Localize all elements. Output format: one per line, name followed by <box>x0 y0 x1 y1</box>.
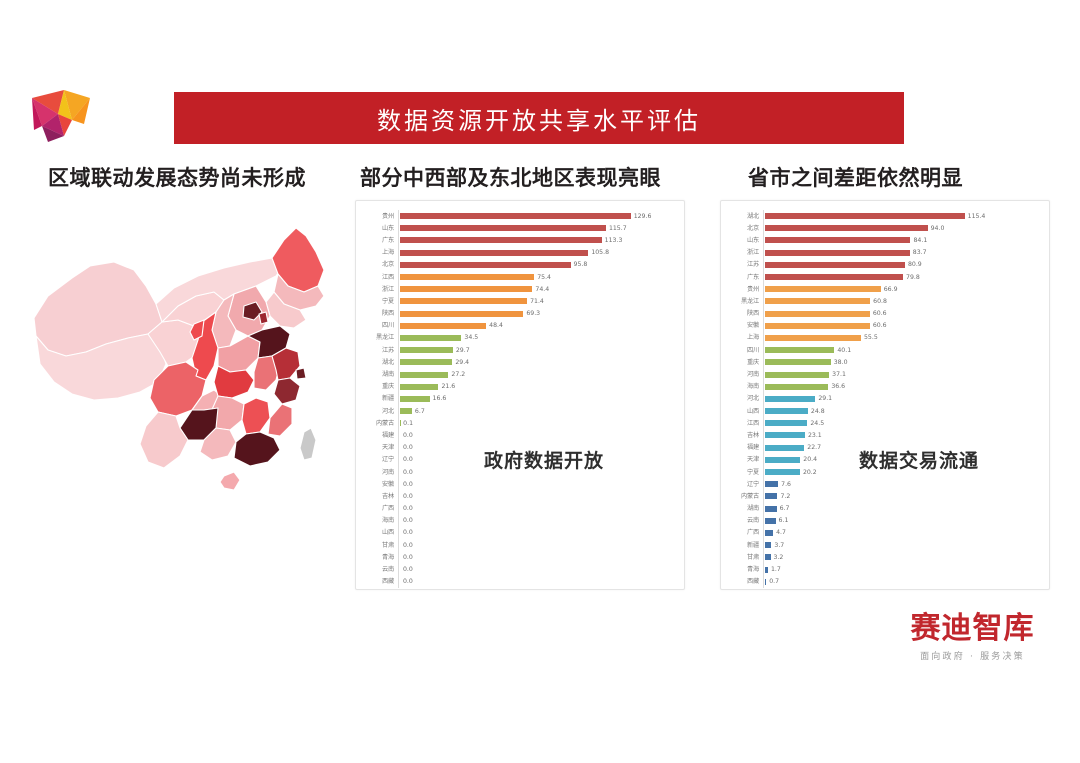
bar-row: 安徽60.6 <box>725 320 1041 332</box>
bar-track: 0.0 <box>398 478 676 490</box>
bar-row: 云南6.1 <box>725 515 1041 527</box>
bar-fill <box>765 286 881 292</box>
bar-track: 66.9 <box>763 283 1041 295</box>
bar-track: 6.1 <box>763 515 1041 527</box>
bar-row: 河南37.1 <box>725 368 1041 380</box>
bar-category-label: 广西 <box>725 529 763 536</box>
bar-fill <box>765 372 829 378</box>
bar-fill <box>400 396 430 402</box>
bar-category-label: 河北 <box>360 408 398 415</box>
bar-fill <box>765 445 804 451</box>
bar-category-label: 安徽 <box>360 481 398 488</box>
bar-fill <box>765 567 768 573</box>
chart-title-gov: 政府数据开放 <box>484 446 604 473</box>
bar-track: 0.0 <box>398 490 676 502</box>
bar-row: 青海0.0 <box>360 551 676 563</box>
map-region-tianjin <box>259 312 268 324</box>
bar-fill <box>765 506 777 512</box>
bar-fill <box>400 274 534 280</box>
bar-row: 湖南27.2 <box>360 368 676 380</box>
bar-value-label: 0.0 <box>403 493 413 500</box>
bar-fill <box>400 262 571 268</box>
bar-value-label: 6.7 <box>415 408 425 415</box>
section-heading-gov: 部分中西部及东北地区表现亮眼 <box>360 162 661 192</box>
bar-fill <box>400 384 438 390</box>
bar-category-label: 吉林 <box>725 432 763 439</box>
bar-row: 吉林23.1 <box>725 429 1041 441</box>
bar-row: 吉林0.0 <box>360 490 676 502</box>
bar-row: 陕西69.3 <box>360 308 676 320</box>
bar-value-label: 60.8 <box>873 298 887 305</box>
bar-value-label: 0.0 <box>403 517 413 524</box>
bar-track: 7.2 <box>763 490 1041 502</box>
bar-value-label: 80.9 <box>908 261 922 268</box>
bar-category-label: 四川 <box>725 347 763 354</box>
bar-track: 0.0 <box>398 515 676 527</box>
bar-category-label: 安徽 <box>725 322 763 329</box>
bar-track: 0.0 <box>398 527 676 539</box>
bar-category-label: 山东 <box>725 237 763 244</box>
bar-category-label: 辽宁 <box>725 481 763 488</box>
bar-fill <box>400 250 588 256</box>
bar-track: 48.4 <box>398 320 676 332</box>
bar-value-label: 0.0 <box>403 529 413 536</box>
map-region-jiangxi <box>242 398 270 434</box>
bar-rows-container-gov: 贵州129.6山东115.7广东113.3上海105.8北京95.8江西75.4… <box>356 201 684 589</box>
brand-name: 赛迪智库 <box>900 612 1045 646</box>
bar-row: 新疆3.7 <box>725 539 1041 551</box>
bar-track: 0.0 <box>398 539 676 551</box>
section-heading-map: 区域联动发展态势尚未形成 <box>48 162 306 192</box>
bar-row: 浙江83.7 <box>725 247 1041 259</box>
bar-category-label: 浙江 <box>725 249 763 256</box>
bar-row: 云南0.0 <box>360 563 676 575</box>
bar-value-label: 79.8 <box>906 274 920 281</box>
bar-track: 129.6 <box>398 210 676 222</box>
bar-track: 75.4 <box>398 271 676 283</box>
bar-row: 上海55.5 <box>725 332 1041 344</box>
bar-track: 24.5 <box>763 417 1041 429</box>
bar-track: 0.0 <box>398 563 676 575</box>
bar-category-label: 福建 <box>360 432 398 439</box>
china-choropleth-map <box>28 200 348 530</box>
bar-fill <box>765 225 928 231</box>
bar-fill <box>400 213 631 219</box>
bar-row: 广西4.7 <box>725 527 1041 539</box>
bar-value-label: 3.2 <box>774 554 784 561</box>
bar-track: 74.4 <box>398 283 676 295</box>
bar-track: 29.1 <box>763 393 1041 405</box>
bar-value-label: 105.8 <box>591 249 609 256</box>
bar-track: 83.7 <box>763 247 1041 259</box>
map-region-shanghai <box>296 368 306 379</box>
bar-row: 海南0.0 <box>360 515 676 527</box>
bar-category-label: 宁夏 <box>360 298 398 305</box>
bar-fill <box>400 347 453 353</box>
bar-value-label: 6.1 <box>779 517 789 524</box>
bar-value-label: 55.5 <box>864 334 878 341</box>
bar-category-label: 山西 <box>360 529 398 536</box>
bar-fill <box>765 359 831 365</box>
bar-category-label: 陕西 <box>360 310 398 317</box>
bar-track: 60.6 <box>763 308 1041 320</box>
bar-track: 0.0 <box>398 551 676 563</box>
bar-track: 3.7 <box>763 539 1041 551</box>
bar-fill <box>765 335 861 341</box>
bar-value-label: 29.4 <box>455 359 469 366</box>
bar-row: 北京94.0 <box>725 222 1041 234</box>
bar-fill <box>765 298 870 304</box>
bar-value-label: 24.8 <box>811 408 825 415</box>
bar-category-label: 湖南 <box>725 505 763 512</box>
bar-value-label: 69.3 <box>526 310 540 317</box>
bar-fill <box>765 554 771 560</box>
bar-row: 新疆16.6 <box>360 393 676 405</box>
bar-category-label: 辽宁 <box>360 456 398 463</box>
bar-fill <box>765 542 771 548</box>
bar-fill <box>765 457 800 463</box>
bar-category-label: 西藏 <box>725 578 763 585</box>
bar-category-label: 甘肃 <box>360 542 398 549</box>
bar-track: 84.1 <box>763 234 1041 246</box>
bar-fill <box>765 469 800 475</box>
bar-row: 山西0.0 <box>360 527 676 539</box>
bar-category-label: 广西 <box>360 505 398 512</box>
bar-category-label: 西藏 <box>360 578 398 585</box>
bar-value-label: 0.0 <box>403 505 413 512</box>
bar-value-label: 115.4 <box>968 213 986 220</box>
bar-category-label: 江西 <box>725 420 763 427</box>
bar-fill <box>400 323 486 329</box>
bar-row: 海南36.6 <box>725 381 1041 393</box>
bar-category-label: 重庆 <box>725 359 763 366</box>
map-region-fujian <box>268 404 292 436</box>
bar-value-label: 38.0 <box>834 359 848 366</box>
bar-value-label: 29.7 <box>456 347 470 354</box>
bar-value-label: 0.0 <box>403 481 413 488</box>
bar-track: 0.1 <box>398 417 676 429</box>
bar-value-label: 75.4 <box>537 274 551 281</box>
bar-track: 105.8 <box>398 247 676 259</box>
bar-value-label: 0.0 <box>403 432 413 439</box>
bar-category-label: 河南 <box>360 469 398 476</box>
bar-value-label: 3.7 <box>774 542 784 549</box>
bar-row: 重庆38.0 <box>725 356 1041 368</box>
bar-track: 95.8 <box>398 259 676 271</box>
page-title: 数据资源开放共享水平评估 <box>377 101 701 136</box>
bar-value-label: 0.7 <box>769 578 779 585</box>
bar-category-label: 福建 <box>725 444 763 451</box>
chart-data-trading-circulation: 湖北115.4北京94.0山东84.1浙江83.7江苏80.9广东79.8贵州6… <box>720 200 1050 590</box>
bar-category-label: 广东 <box>725 274 763 281</box>
bar-track: 0.0 <box>398 576 676 588</box>
bar-value-label: 84.1 <box>913 237 927 244</box>
saidi-polygon-logo <box>18 80 96 148</box>
bar-track: 55.5 <box>763 332 1041 344</box>
bar-row: 北京95.8 <box>360 259 676 271</box>
bar-category-label: 山东 <box>360 225 398 232</box>
bar-value-label: 60.6 <box>873 310 887 317</box>
bar-category-label: 宁夏 <box>725 469 763 476</box>
bar-category-label: 上海 <box>725 334 763 341</box>
bar-track: 71.4 <box>398 295 676 307</box>
bar-value-label: 129.6 <box>634 213 652 220</box>
bar-track: 37.1 <box>763 368 1041 380</box>
bar-category-label: 新疆 <box>360 395 398 402</box>
bar-value-label: 66.9 <box>884 286 898 293</box>
bar-rows-container-trade: 湖北115.4北京94.0山东84.1浙江83.7江苏80.9广东79.8贵州6… <box>721 201 1049 589</box>
bar-row: 四川48.4 <box>360 320 676 332</box>
bar-category-label: 海南 <box>725 383 763 390</box>
bar-track: 38.0 <box>763 356 1041 368</box>
bar-fill <box>765 420 807 426</box>
bar-value-label: 83.7 <box>913 249 927 256</box>
section-heading-trade: 省市之间差距依然明显 <box>748 162 963 192</box>
bar-value-label: 7.6 <box>781 481 791 488</box>
bar-category-label: 青海 <box>725 566 763 573</box>
bar-row: 江苏29.7 <box>360 344 676 356</box>
bar-value-label: 1.7 <box>771 566 781 573</box>
bar-value-label: 29.1 <box>818 395 832 402</box>
bar-fill <box>765 481 778 487</box>
bar-track: 60.6 <box>763 320 1041 332</box>
slide-title-banner: 数据资源开放共享水平评估 <box>174 92 904 144</box>
bar-value-label: 40.1 <box>837 347 851 354</box>
bar-value-label: 20.2 <box>803 469 817 476</box>
bar-value-label: 0.0 <box>403 554 413 561</box>
bar-track: 27.2 <box>398 368 676 380</box>
bar-value-label: 4.7 <box>776 529 786 536</box>
bar-value-label: 34.5 <box>464 334 478 341</box>
bar-category-label: 湖北 <box>725 213 763 220</box>
bar-category-label: 内蒙古 <box>360 420 398 427</box>
bar-track: 79.8 <box>763 271 1041 283</box>
bar-row: 内蒙古7.2 <box>725 490 1041 502</box>
bar-row: 浙江74.4 <box>360 283 676 295</box>
bar-category-label: 云南 <box>360 566 398 573</box>
bar-category-label: 河南 <box>725 371 763 378</box>
bar-row: 广东113.3 <box>360 234 676 246</box>
bar-category-label: 吉林 <box>360 493 398 500</box>
bar-row: 湖北29.4 <box>360 356 676 368</box>
bar-category-label: 陕西 <box>725 310 763 317</box>
slide-canvas: 数据资源开放共享水平评估 区域联动发展态势尚未形成 部分中西部及东北地区表现亮眼… <box>0 0 1080 763</box>
bar-row: 西藏0.0 <box>360 576 676 588</box>
bar-category-label: 山西 <box>725 408 763 415</box>
bar-row: 黑龙江34.5 <box>360 332 676 344</box>
bar-fill <box>765 384 828 390</box>
bar-row: 江西24.5 <box>725 417 1041 429</box>
bar-row: 山东84.1 <box>725 234 1041 246</box>
bar-track: 94.0 <box>763 222 1041 234</box>
bar-track: 6.7 <box>763 503 1041 515</box>
bar-category-label: 云南 <box>725 517 763 524</box>
bar-value-label: 60.6 <box>873 322 887 329</box>
bar-fill <box>765 579 766 585</box>
bar-value-label: 37.1 <box>832 371 846 378</box>
bar-value-label: 95.8 <box>574 261 588 268</box>
bar-category-label: 江苏 <box>725 261 763 268</box>
bar-row: 四川40.1 <box>725 344 1041 356</box>
bar-category-label: 黑龙江 <box>725 298 763 305</box>
bar-row: 贵州129.6 <box>360 210 676 222</box>
bar-row: 黑龙江60.8 <box>725 295 1041 307</box>
map-region-zhejiang <box>274 378 300 404</box>
chart-government-data-openness: 贵州129.6山东115.7广东113.3上海105.8北京95.8江西75.4… <box>355 200 685 590</box>
bar-fill <box>765 396 815 402</box>
bar-value-label: 20.4 <box>803 456 817 463</box>
bar-row: 安徽0.0 <box>360 478 676 490</box>
bar-fill <box>765 250 910 256</box>
bar-track: 16.6 <box>398 393 676 405</box>
bar-category-label: 广东 <box>360 237 398 244</box>
chart-title-trade: 数据交易流通 <box>859 446 979 473</box>
bar-value-label: 6.7 <box>780 505 790 512</box>
map-region-hainan <box>220 472 240 490</box>
bar-row: 重庆21.6 <box>360 381 676 393</box>
bar-category-label: 海南 <box>360 517 398 524</box>
bar-category-label: 江西 <box>360 274 398 281</box>
bar-track: 7.6 <box>763 478 1041 490</box>
bar-fill <box>765 408 808 414</box>
bar-track: 113.3 <box>398 234 676 246</box>
bar-category-label: 浙江 <box>360 286 398 293</box>
bar-category-label: 北京 <box>360 261 398 268</box>
bar-category-label: 青海 <box>360 554 398 561</box>
bar-value-label: 0.0 <box>403 456 413 463</box>
bar-row: 青海1.7 <box>725 563 1041 575</box>
bar-row: 上海105.8 <box>360 247 676 259</box>
map-region-guangdong <box>234 432 280 466</box>
bar-track: 115.7 <box>398 222 676 234</box>
bar-track: 29.4 <box>398 356 676 368</box>
bar-fill <box>765 237 910 243</box>
bar-category-label: 重庆 <box>360 383 398 390</box>
bar-value-label: 0.0 <box>403 469 413 476</box>
map-region-taiwan <box>300 428 316 460</box>
bar-track: 36.6 <box>763 381 1041 393</box>
bar-value-label: 0.0 <box>403 542 413 549</box>
bar-value-label: 115.7 <box>609 225 627 232</box>
bar-row: 宁夏71.4 <box>360 295 676 307</box>
bar-fill <box>765 311 870 317</box>
bar-row: 广西0.0 <box>360 503 676 515</box>
bar-fill <box>400 408 412 414</box>
bar-value-label: 74.4 <box>535 286 549 293</box>
bar-row: 内蒙古0.1 <box>360 417 676 429</box>
bar-category-label: 湖南 <box>360 371 398 378</box>
bar-fill <box>765 274 903 280</box>
bar-fill <box>765 518 776 524</box>
bar-category-label: 天津 <box>725 456 763 463</box>
bar-value-label: 0.0 <box>403 578 413 585</box>
bar-value-label: 0.0 <box>403 566 413 573</box>
bar-fill <box>400 286 532 292</box>
bar-track: 23.1 <box>763 429 1041 441</box>
bar-track: 0.0 <box>398 503 676 515</box>
bar-track: 24.8 <box>763 405 1041 417</box>
bar-track: 115.4 <box>763 210 1041 222</box>
bar-value-label: 71.4 <box>530 298 544 305</box>
bar-row: 湖北115.4 <box>725 210 1041 222</box>
bar-fill <box>400 225 606 231</box>
bar-row: 广东79.8 <box>725 271 1041 283</box>
bar-category-label: 江苏 <box>360 347 398 354</box>
brand-logo-saidi-think-tank: 赛迪智库 面向政府 · 服务决策 <box>900 612 1045 662</box>
bar-value-label: 94.0 <box>931 225 945 232</box>
bar-row: 陕西60.6 <box>725 308 1041 320</box>
bar-category-label: 新疆 <box>725 542 763 549</box>
map-region-yunnan <box>140 412 188 468</box>
bar-row: 江苏80.9 <box>725 259 1041 271</box>
bar-track: 21.6 <box>398 381 676 393</box>
bar-track: 1.7 <box>763 563 1041 575</box>
bar-value-label: 22.7 <box>807 444 821 451</box>
bar-category-label: 天津 <box>360 444 398 451</box>
bar-row: 西藏0.7 <box>725 576 1041 588</box>
bar-value-label: 21.6 <box>441 383 455 390</box>
bar-fill <box>400 298 527 304</box>
bar-track: 29.7 <box>398 344 676 356</box>
bar-fill <box>765 347 834 353</box>
bar-fill <box>400 372 448 378</box>
bar-track: 34.5 <box>398 332 676 344</box>
bar-value-label: 0.1 <box>403 420 413 427</box>
brand-tagline: 面向政府 · 服务决策 <box>900 649 1045 662</box>
bar-fill <box>765 323 870 329</box>
bar-row: 湖南6.7 <box>725 503 1041 515</box>
bar-row: 辽宁7.6 <box>725 478 1041 490</box>
bar-track: 60.8 <box>763 295 1041 307</box>
bar-value-label: 113.3 <box>605 237 623 244</box>
bar-category-label: 内蒙古 <box>725 493 763 500</box>
bar-fill <box>765 530 773 536</box>
bar-fill <box>400 237 602 243</box>
bar-row: 山西24.8 <box>725 405 1041 417</box>
bar-row: 江西75.4 <box>360 271 676 283</box>
bar-category-label: 贵州 <box>360 213 398 220</box>
bar-value-label: 27.2 <box>451 371 465 378</box>
bar-fill <box>765 213 965 219</box>
bar-fill <box>765 493 777 499</box>
bar-value-label: 0.0 <box>403 444 413 451</box>
bar-value-label: 48.4 <box>489 322 503 329</box>
bar-track: 3.2 <box>763 551 1041 563</box>
bar-track: 80.9 <box>763 259 1041 271</box>
bar-track: 0.0 <box>398 429 676 441</box>
bar-fill <box>765 432 805 438</box>
bar-track: 40.1 <box>763 344 1041 356</box>
bar-category-label: 上海 <box>360 249 398 256</box>
bar-fill <box>400 359 452 365</box>
bar-value-label: 23.1 <box>808 432 822 439</box>
bar-category-label: 北京 <box>725 225 763 232</box>
bar-row: 山东115.7 <box>360 222 676 234</box>
bar-track: 6.7 <box>398 405 676 417</box>
bar-category-label: 湖北 <box>360 359 398 366</box>
bar-row: 贵州66.9 <box>725 283 1041 295</box>
bar-value-label: 7.2 <box>780 493 790 500</box>
bar-category-label: 贵州 <box>725 286 763 293</box>
bar-track: 69.3 <box>398 308 676 320</box>
bar-category-label: 黑龙江 <box>360 334 398 341</box>
bar-row: 福建0.0 <box>360 429 676 441</box>
bar-row: 甘肃0.0 <box>360 539 676 551</box>
bar-row: 河北6.7 <box>360 405 676 417</box>
bar-fill <box>765 262 905 268</box>
bar-category-label: 四川 <box>360 322 398 329</box>
bar-value-label: 36.6 <box>831 383 845 390</box>
